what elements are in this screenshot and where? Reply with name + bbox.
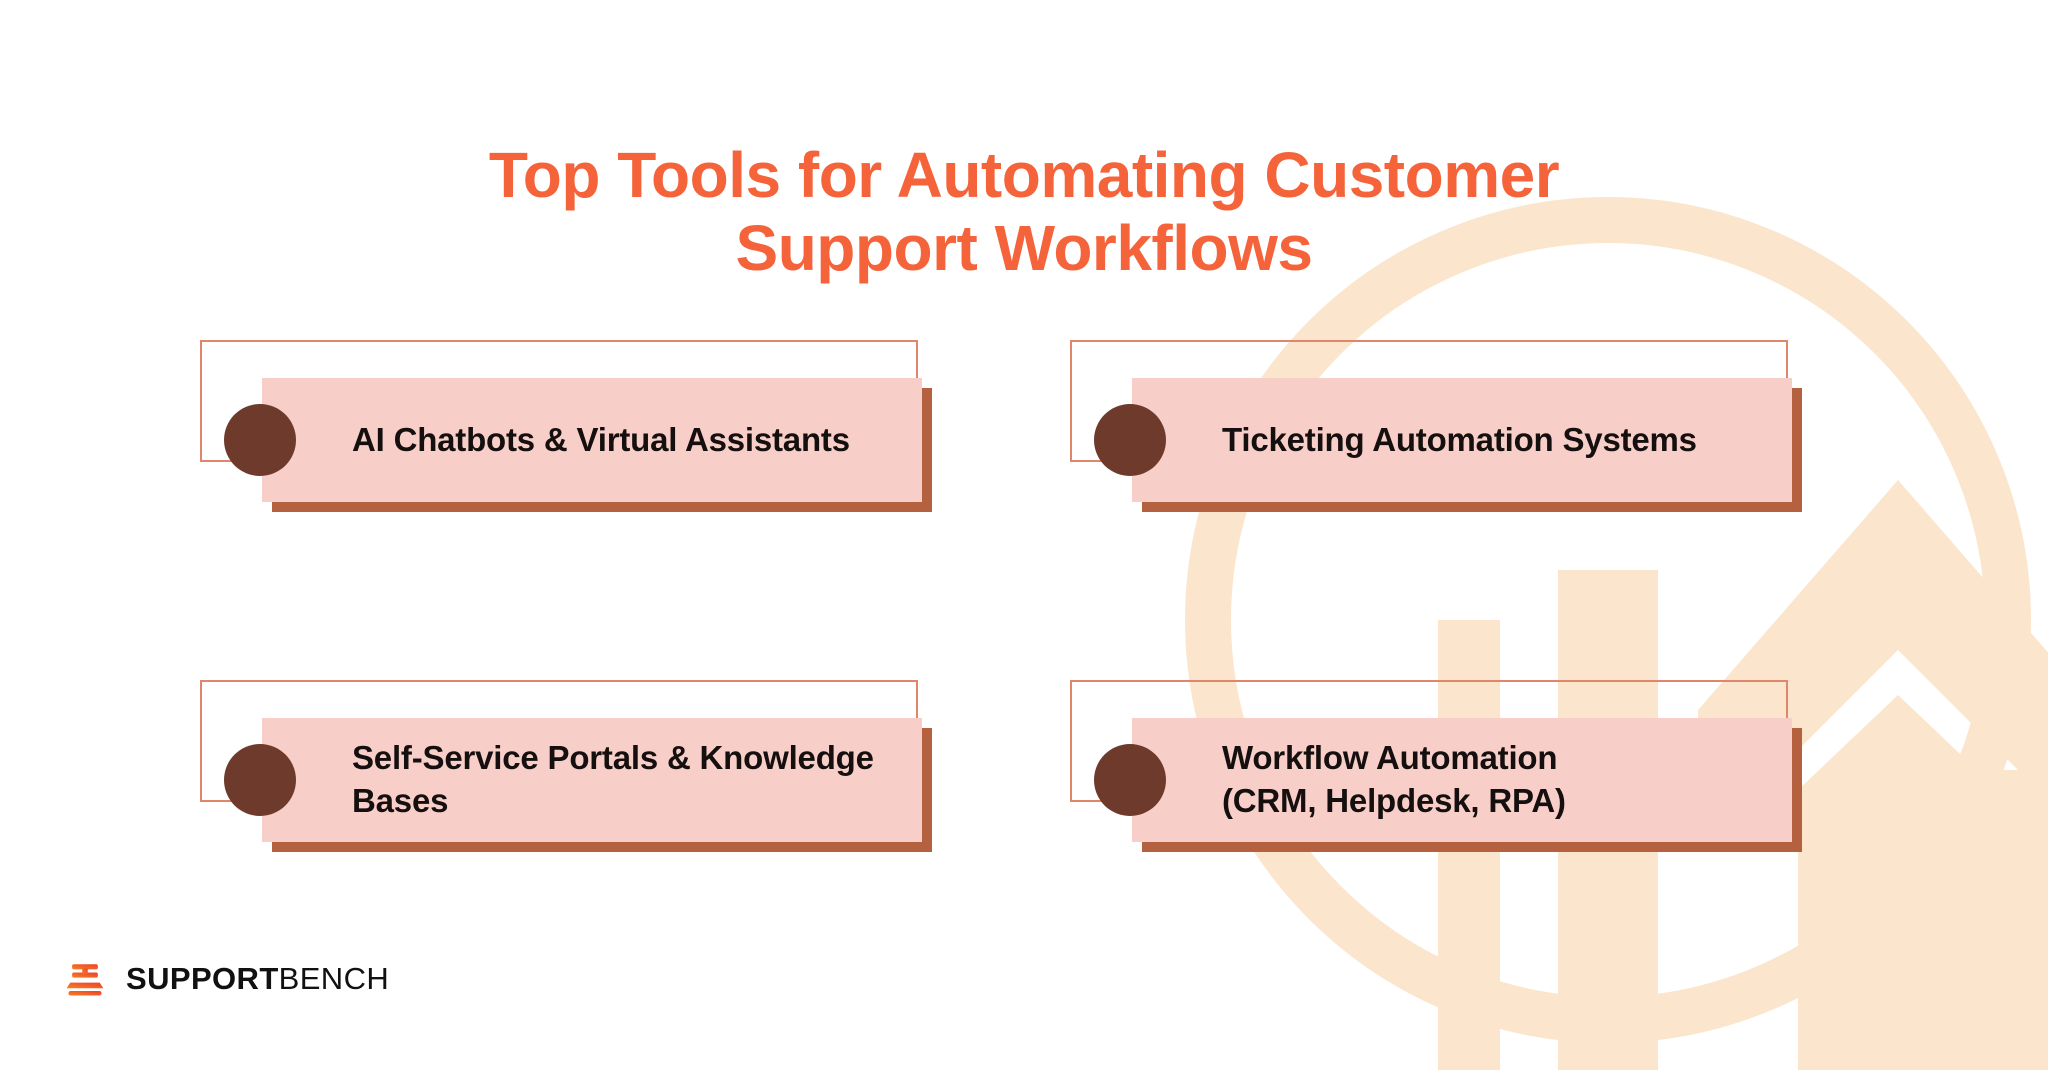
card-row-1: AI Chatbots & Virtual Assistants Ticketi… bbox=[200, 340, 1900, 512]
brand-name-light: BENCH bbox=[279, 961, 390, 996]
tools-card-grid: AI Chatbots & Virtual Assistants Ticketi… bbox=[200, 340, 1900, 852]
supportbench-stacked-layers-icon bbox=[62, 956, 108, 1002]
card-label: Self-Service Portals & Knowledge Bases bbox=[352, 737, 912, 823]
card-panel: Ticketing Automation Systems bbox=[1132, 378, 1792, 502]
tool-card-self-service-portals[interactable]: Self-Service Portals & Knowledge Bases bbox=[200, 680, 930, 852]
card-panel: Self-Service Portals & Knowledge Bases bbox=[262, 718, 922, 842]
page-title: Top Tools for Automating Customer Suppor… bbox=[374, 139, 1674, 286]
bullet-dot-icon bbox=[1094, 404, 1166, 476]
slide-canvas: Top Tools for Automating Customer Suppor… bbox=[0, 0, 2048, 1070]
brand-logo-text: SUPPORTBENCH bbox=[126, 961, 389, 997]
card-panel: AI Chatbots & Virtual Assistants bbox=[262, 378, 922, 502]
card-label: Ticketing Automation Systems bbox=[1222, 419, 1697, 462]
card-panel: Workflow Automation (CRM, Helpdesk, RPA) bbox=[1132, 718, 1792, 842]
bullet-dot-icon bbox=[224, 744, 296, 816]
tool-card-ai-chatbots[interactable]: AI Chatbots & Virtual Assistants bbox=[200, 340, 930, 512]
card-label: Workflow Automation (CRM, Helpdesk, RPA) bbox=[1222, 737, 1566, 823]
tool-card-workflow-automation[interactable]: Workflow Automation (CRM, Helpdesk, RPA) bbox=[1070, 680, 1800, 852]
tool-card-ticketing-automation[interactable]: Ticketing Automation Systems bbox=[1070, 340, 1800, 512]
brand-name-strong: SUPPORT bbox=[126, 961, 279, 996]
bullet-dot-icon bbox=[224, 404, 296, 476]
brand-logo[interactable]: SUPPORTBENCH bbox=[62, 956, 389, 1002]
bullet-dot-icon bbox=[1094, 744, 1166, 816]
card-row-2: Self-Service Portals & Knowledge Bases W… bbox=[200, 680, 1900, 852]
card-label: AI Chatbots & Virtual Assistants bbox=[352, 419, 850, 462]
